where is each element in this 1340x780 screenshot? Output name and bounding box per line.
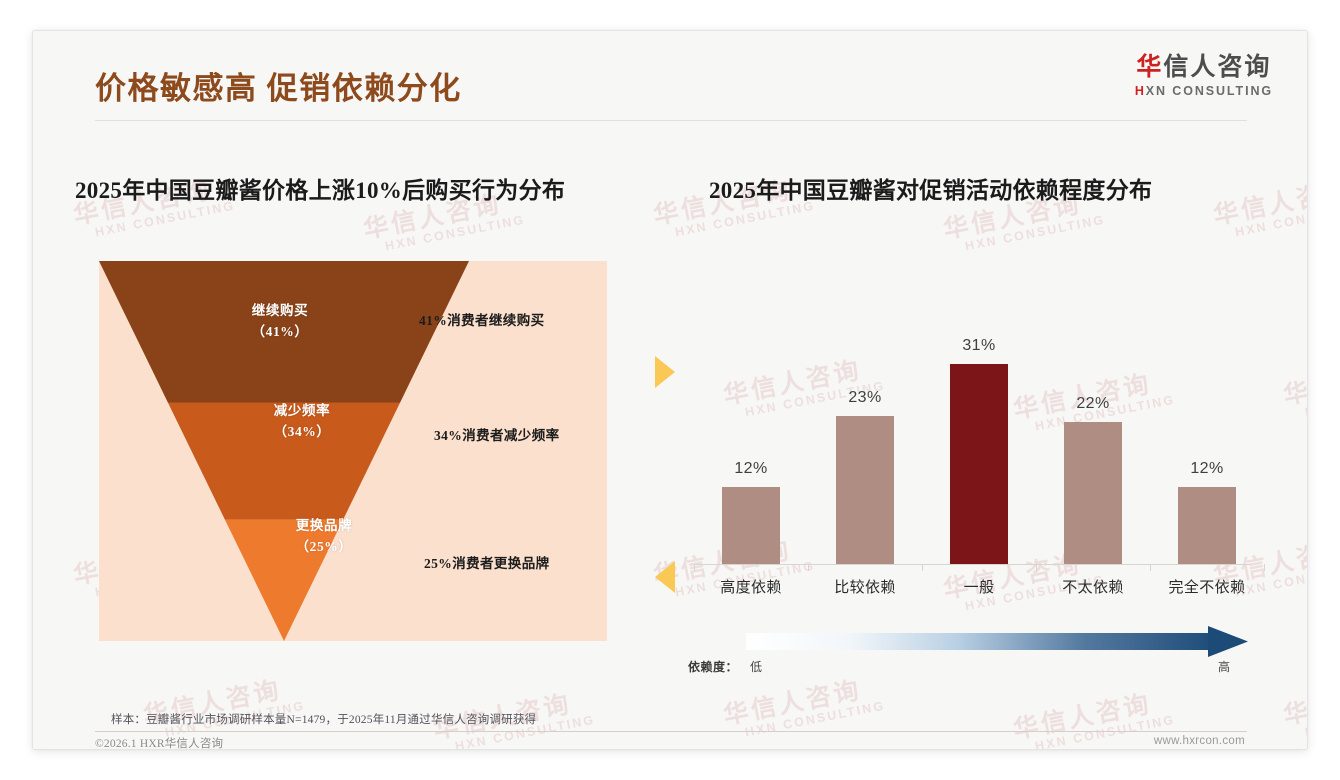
bar-column[interactable]: 31% — [922, 286, 1036, 564]
bar-value-label: 23% — [848, 389, 881, 407]
logo-chinese: 华信人咨询 — [1135, 55, 1273, 80]
bar-column[interactable]: 12% — [1150, 286, 1264, 564]
funnel-note-continue: 41%消费者继续购买 — [419, 309, 545, 329]
slide-footer: ©2026.1 HXR华信人咨询 www.hxrcon.com — [33, 732, 1307, 750]
funnel-caption-line: （25%） — [239, 537, 409, 558]
scale-high-label: 高 — [1218, 658, 1230, 675]
scale-arrowhead — [1208, 626, 1248, 657]
bar-category-label: 一般 — [922, 576, 1036, 597]
bar-axis-tick — [1036, 564, 1037, 571]
bar-plot-area: 12%23%31%22%12% — [688, 286, 1258, 564]
bar-rect[interactable] — [722, 487, 780, 564]
left-chart-title: 2025年中国豆瓣酱价格上涨10%后购买行为分布 — [75, 171, 565, 205]
bar-column[interactable]: 23% — [808, 286, 922, 564]
funnel-note-switch: 25%消费者更换品牌 — [424, 552, 550, 572]
funnel-caption-line: 更换品牌 — [239, 516, 409, 537]
brand-logo: 华信人咨询 HXN CONSULTING — [1135, 55, 1273, 98]
page-title: 价格敏感高 促销依赖分化 — [95, 63, 462, 108]
bar-axis-tick — [808, 564, 809, 571]
funnel-label-continue: 继续购买（41%） — [195, 301, 365, 343]
funnel-caption-line: 继续购买 — [195, 301, 365, 322]
bar-category-label: 高度依赖 — [694, 576, 808, 597]
funnel-caption-line: （34%） — [217, 422, 387, 443]
bar-category-label: 不太依赖 — [1036, 576, 1150, 597]
funnel-caption-line: 减少频率 — [217, 401, 387, 422]
watermark-text: 华信人咨询HXN CONSULTING — [1280, 346, 1307, 423]
watermark-text: 华信人咨询HXN CONSULTING — [1210, 166, 1307, 243]
bar-rect[interactable] — [1064, 422, 1122, 564]
scale-arrow-svg — [688, 624, 1258, 658]
footer-copyright: ©2026.1 HXR华信人咨询 — [95, 735, 223, 750]
dependency-scale: 依赖度： 低 高 — [688, 624, 1258, 684]
slide-canvas: 华信人咨询HXN CONSULTING华信人咨询HXN CONSULTING华信… — [32, 30, 1308, 750]
bar-axis-tick — [1150, 564, 1151, 571]
footer-website[interactable]: www.hxrcon.com — [1154, 735, 1245, 747]
bar-rect[interactable] — [1178, 487, 1236, 564]
logo-en-accent: H — [1135, 84, 1146, 98]
bar-axis-tick — [694, 564, 695, 571]
funnel-note-reduce: 34%消费者减少频率 — [434, 424, 560, 444]
logo-en-rest: XN CONSULTING — [1146, 84, 1273, 98]
bar-rect[interactable] — [836, 416, 894, 564]
scale-low-label: 低 — [750, 658, 762, 675]
bar-category-label: 比较依赖 — [808, 576, 922, 597]
right-chart-title: 2025年中国豆瓣酱对促销活动依赖程度分布 — [709, 171, 1152, 205]
slide-header: 价格敏感高 促销依赖分化 华信人咨询 HXN CONSULTING — [33, 31, 1307, 123]
bar-category-label: 完全不依赖 — [1150, 576, 1264, 597]
bar-column[interactable]: 12% — [694, 286, 808, 564]
bar-value-label: 12% — [1190, 460, 1223, 478]
triangle-right-icon — [655, 356, 675, 388]
bar-axis-line — [694, 564, 1250, 565]
sample-note: 样本：豆瓣酱行业市场调研样本量N=1479，于2025年11月通过华信人咨询调研… — [111, 711, 536, 727]
bar-value-label: 31% — [962, 337, 995, 355]
bar-value-label: 22% — [1076, 395, 1109, 413]
funnel-label-switch: 更换品牌（25%） — [239, 516, 409, 558]
funnel-chart: 继续购买（41%） 减少频率（34%） 更换品牌（25%） 41%消费者继续购买… — [99, 261, 607, 641]
funnel-label-reduce: 减少频率（34%） — [217, 401, 387, 443]
scale-gradient-bar — [746, 633, 1216, 650]
bar-column[interactable]: 22% — [1036, 286, 1150, 564]
scale-caption: 依赖度： — [688, 658, 738, 675]
logo-cn-rest: 信人咨询 — [1163, 54, 1271, 81]
logo-cn-accent: 华 — [1136, 54, 1163, 81]
bar-rect[interactable] — [950, 364, 1008, 564]
bar-value-label: 12% — [734, 460, 767, 478]
triangle-left-icon — [655, 561, 675, 593]
bar-axis-tick — [1264, 564, 1265, 571]
bar-axis-tick — [922, 564, 923, 571]
header-divider — [95, 120, 1247, 121]
funnel-caption-line: （41%） — [195, 322, 365, 343]
logo-english: HXN CONSULTING — [1135, 85, 1273, 98]
dependency-bar-chart: 12%23%31%22%12% 高度依赖比较依赖一般不太依赖完全不依赖 — [688, 286, 1258, 586]
